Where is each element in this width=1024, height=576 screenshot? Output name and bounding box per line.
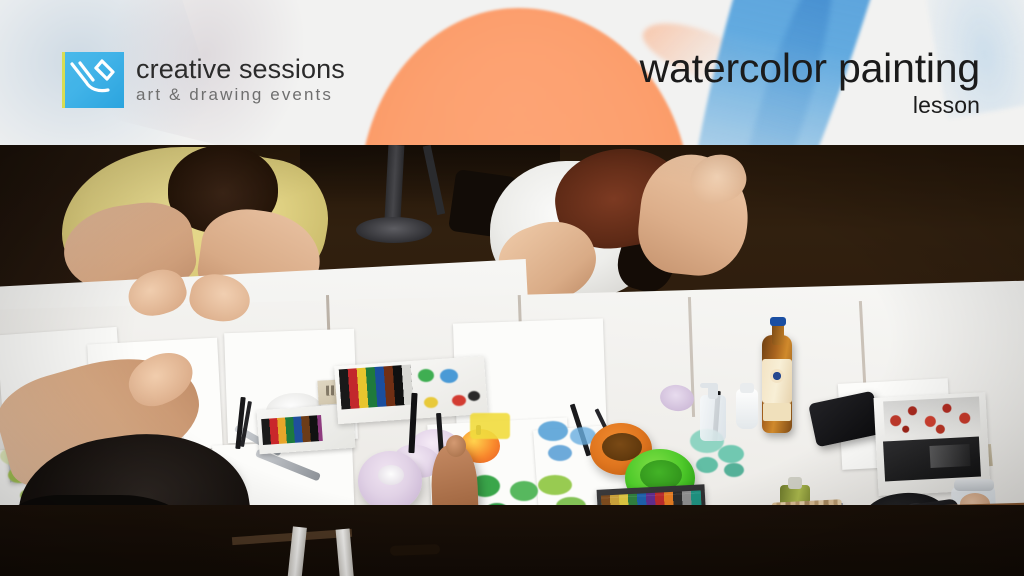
beer-bottle-label-lower [763, 403, 791, 421]
spray-bottle [736, 389, 758, 429]
banner-header: creative sessions art & drawing events w… [0, 0, 1024, 145]
paint-swatch-black [468, 391, 480, 401]
toilet-paper-core [378, 465, 404, 485]
watercolor-lesson-banner: creative sessions art & drawing events w… [0, 0, 1024, 576]
beer-bottle-cap [770, 317, 786, 326]
paint-swatch-red [452, 395, 466, 406]
spray-bottle-cap [740, 383, 754, 393]
paint-swatch-green [510, 481, 538, 501]
paint-swatch-teal [718, 445, 744, 463]
paint-swatch-teal [696, 457, 718, 473]
paint-swatch-green [538, 475, 572, 495]
brand-logo[interactable]: creative sessions art & drawing events [62, 52, 345, 108]
manikin-head [446, 435, 466, 457]
brand-tagline: art & drawing events [136, 85, 345, 105]
watercolor-pans [261, 415, 323, 445]
paint-swatch-green [418, 369, 434, 382]
page-subtitle: lesson [640, 92, 980, 118]
paint-swatch-blue [548, 445, 572, 461]
workshop-photo [0, 145, 1024, 576]
banner-title-block: watercolor painting lesson [640, 44, 980, 118]
paint-swatch-yellow [470, 413, 510, 439]
beer-bottle-emblem [770, 369, 784, 383]
poster-number-text [929, 444, 970, 468]
brand-logo-text: creative sessions art & drawing events [136, 55, 345, 105]
paint-swatch-blue [538, 421, 568, 441]
paint-swatch-teal [724, 463, 744, 477]
medium-bottle-cap [788, 477, 802, 489]
brush-stroke-logo-icon [62, 52, 124, 108]
floor-foreground [0, 505, 1024, 576]
table-foot [390, 544, 440, 556]
stand-base [356, 217, 432, 243]
paint-swatch-blue [440, 369, 458, 383]
glass-jar-lid [954, 479, 994, 491]
page-title: watercolor painting [640, 44, 980, 92]
pump-bottle-nozzle [700, 383, 718, 388]
beer-bottle-neck [772, 323, 784, 345]
paint-swatch-yellow [424, 397, 438, 408]
poster-floral-artwork [883, 397, 981, 438]
pump-bottle [700, 395, 726, 441]
brand-name: creative sessions [136, 55, 345, 84]
watercolor-pans [339, 365, 414, 410]
